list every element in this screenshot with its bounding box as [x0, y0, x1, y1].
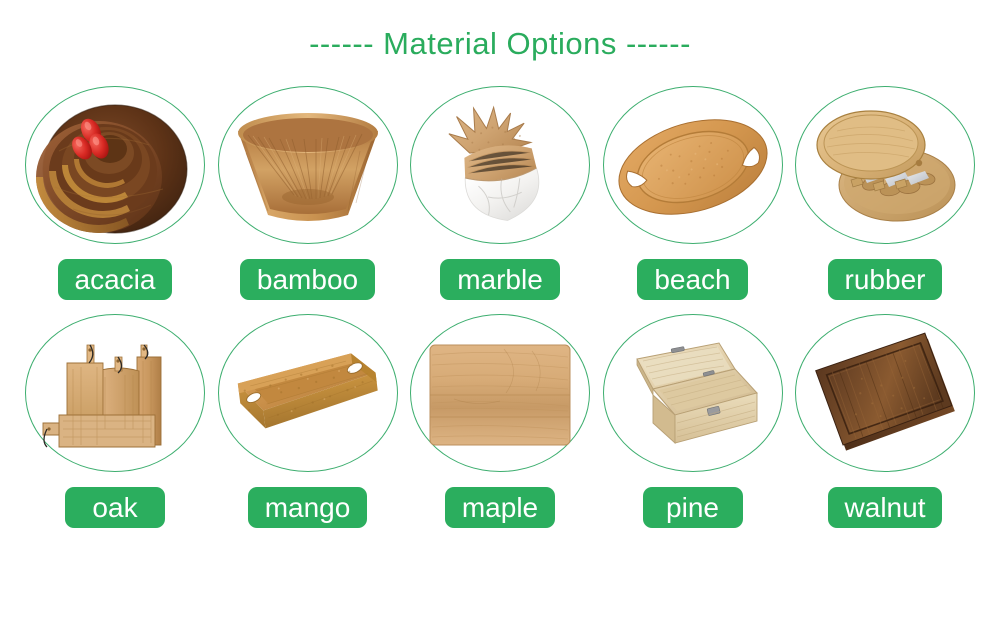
material-option-rubber[interactable]: rubber — [792, 86, 978, 300]
material-label: beach — [654, 266, 730, 294]
material-label-pill[interactable]: beach — [637, 259, 747, 300]
material-option-mango[interactable]: mango — [215, 314, 401, 528]
material-label: pine — [666, 494, 719, 522]
material-label-pill[interactable]: maple — [445, 487, 555, 528]
walnut-board-image — [799, 319, 971, 469]
material-label: maple — [462, 494, 538, 522]
page-title-bar: ------ Material Options ------ — [0, 26, 1000, 62]
thumbnail-frame[interactable] — [794, 86, 976, 246]
bamboo-bowl-image — [222, 91, 394, 241]
material-option-bamboo[interactable]: bamboo — [215, 86, 401, 300]
material-row-2: oak — [22, 314, 978, 528]
mango-serving-tray-image — [222, 319, 394, 469]
material-label-pill[interactable]: acacia — [58, 259, 173, 300]
thumbnail-frame[interactable] — [409, 86, 591, 246]
material-option-walnut[interactable]: walnut — [792, 314, 978, 528]
material-label: bamboo — [257, 266, 358, 294]
rubber-cheese-board-set-image — [799, 91, 971, 241]
material-label: marble — [457, 266, 543, 294]
material-option-acacia[interactable]: acacia — [22, 86, 208, 300]
material-options-grid: acacia — [22, 86, 978, 528]
material-label-pill[interactable]: walnut — [828, 487, 943, 528]
beach-oval-tray-image — [607, 91, 779, 241]
material-option-oak[interactable]: oak — [22, 314, 208, 528]
material-row-1: acacia — [22, 86, 978, 300]
material-options-page: ------ Material Options ------ — [0, 0, 1000, 634]
thumbnail-frame[interactable] — [24, 86, 206, 246]
material-label: walnut — [845, 494, 926, 522]
material-label-pill[interactable]: marble — [440, 259, 560, 300]
material-label-pill[interactable]: mango — [248, 487, 368, 528]
thumbnail-frame[interactable] — [24, 314, 206, 474]
material-option-beach[interactable]: beach — [600, 86, 786, 300]
material-option-marble[interactable]: marble — [407, 86, 593, 300]
thumbnail-frame[interactable] — [794, 314, 976, 474]
material-label: acacia — [75, 266, 156, 294]
material-option-pine[interactable]: pine — [600, 314, 786, 528]
maple-cutting-board-image — [414, 319, 586, 469]
material-label-pill[interactable]: bamboo — [240, 259, 375, 300]
thumbnail-frame[interactable] — [409, 314, 591, 474]
material-label: mango — [265, 494, 351, 522]
material-label: rubber — [845, 266, 926, 294]
material-label-pill[interactable]: rubber — [828, 259, 943, 300]
thumbnail-frame[interactable] — [602, 314, 784, 474]
pine-storage-box-image — [607, 319, 779, 469]
page-title: ------ Material Options ------ — [309, 26, 691, 62]
thumbnail-frame[interactable] — [602, 86, 784, 246]
thumbnail-frame[interactable] — [217, 86, 399, 246]
material-label: oak — [92, 494, 137, 522]
marble-pineapple-board-image — [414, 91, 586, 241]
thumbnail-frame[interactable] — [217, 314, 399, 474]
material-label-pill[interactable]: pine — [643, 487, 743, 528]
oak-cutting-boards-image — [29, 319, 201, 469]
material-label-pill[interactable]: oak — [65, 487, 165, 528]
acacia-wood-plates-image — [29, 91, 201, 241]
material-option-maple[interactable]: maple — [407, 314, 593, 528]
